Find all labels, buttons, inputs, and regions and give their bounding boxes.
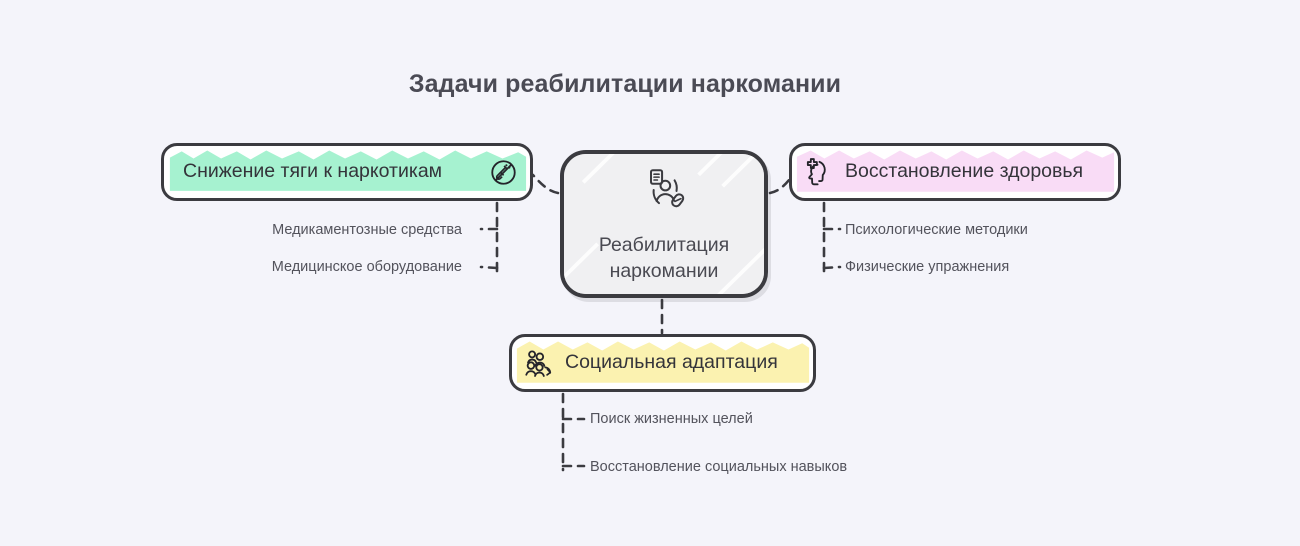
center-label-line-1: Реабилитация xyxy=(599,233,729,259)
person-document-pill-icon xyxy=(638,164,690,221)
center-node-label: Реабилитация наркомании xyxy=(599,233,729,284)
center-label-line-2: наркомании xyxy=(599,259,729,285)
edge-green-leaf-1 xyxy=(481,267,497,268)
leaf-label-green-0: Медикаментозные средства xyxy=(272,223,462,238)
mindmap-canvas: Задачи реабилитации наркомании Снижение … xyxy=(0,0,1300,546)
center-node[interactable]: Реабилитация наркомании xyxy=(560,150,768,298)
branch-node-green[interactable]: Снижение тяги к наркотикам xyxy=(161,143,533,201)
green-node-row: Снижение тяги к наркотикам xyxy=(164,146,530,198)
people-group-icon xyxy=(523,348,554,379)
edge-pink-leaf-1 xyxy=(824,267,840,268)
edge-center-green xyxy=(533,175,558,193)
no-drugs-icon xyxy=(488,157,519,188)
yellow-node-row: Социальная адаптация xyxy=(512,337,813,389)
leaf-label-yellow-0: Поиск жизненных целей xyxy=(590,412,753,427)
pink-node-row: Восстановление здоровья xyxy=(792,146,1118,198)
branch-node-yellow[interactable]: Социальная адаптация xyxy=(509,334,816,392)
head-medical-cross-icon xyxy=(803,157,834,188)
leaf-label-pink-0: Психологические методики xyxy=(845,223,1028,238)
leaf-label-yellow-1: Восстановление социальных навыков xyxy=(590,460,847,475)
branch-label-green: Снижение тяги к наркотикам xyxy=(183,162,442,182)
branch-label-yellow: Социальная адаптация xyxy=(565,353,778,373)
branch-node-pink[interactable]: Восстановление здоровья xyxy=(789,143,1121,201)
leaf-label-pink-1: Физические упражнения xyxy=(845,260,1009,275)
leaf-label-green-1: Медицинское оборудование xyxy=(272,260,462,275)
page-title: Задачи реабилитации наркомании xyxy=(0,70,1250,99)
branch-label-pink: Восстановление здоровья xyxy=(845,162,1083,182)
